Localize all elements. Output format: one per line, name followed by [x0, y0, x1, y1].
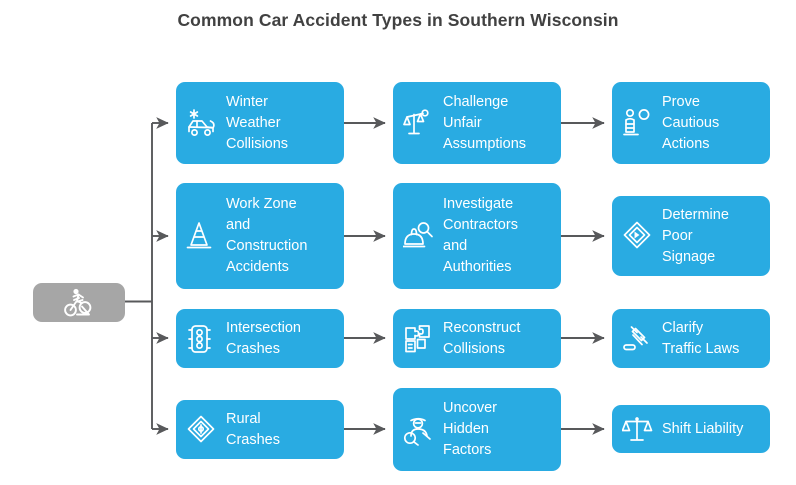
cyclist-icon — [58, 284, 100, 322]
node-label: Shift Liability — [662, 419, 760, 440]
page-title: Common Car Accident Types in Southern Wi… — [0, 10, 796, 31]
gavel-icon — [621, 322, 655, 356]
node-r1c3[interactable]: Prove Cautious Actions — [612, 82, 770, 164]
diamond-sign-icon — [621, 219, 655, 253]
traffic-light-icon — [185, 322, 219, 356]
node-r2c2[interactable]: Investigate Contractors and Authorities — [393, 183, 561, 289]
node-r4c2[interactable]: Uncover Hidden Factors — [393, 388, 561, 471]
detective-icon — [402, 413, 436, 447]
node-r2c3[interactable]: Determine Poor Signage — [612, 196, 770, 276]
node-label: Challenge Unfair Assumptions — [443, 92, 551, 155]
node-label: Determine Poor Signage — [662, 205, 760, 268]
node-r1c1[interactable]: Winter Weather Collisions — [176, 82, 344, 164]
node-r2c1[interactable]: Work Zone and Construction Accidents — [176, 183, 344, 289]
diagram-canvas: Common Car Accident Types in Southern Wi… — [0, 0, 796, 485]
node-label: Prove Cautious Actions — [662, 92, 760, 155]
balance-scales-icon — [621, 412, 655, 446]
node-label: Reconstruct Collisions — [443, 318, 551, 360]
scales-icon — [402, 106, 436, 140]
node-label: Winter Weather Collisions — [226, 92, 334, 155]
hardhat-search-icon — [402, 219, 436, 253]
traffic-cone-icon — [185, 219, 219, 253]
node-r1c2[interactable]: Challenge Unfair Assumptions — [393, 82, 561, 164]
road-sign-diamond-icon — [185, 413, 219, 447]
node-label: Investigate Contractors and Authorities — [443, 194, 551, 278]
node-r3c3[interactable]: Clarify Traffic Laws — [612, 309, 770, 368]
person-check-icon — [621, 106, 655, 140]
node-r4c3[interactable]: Shift Liability — [612, 405, 770, 453]
node-r4c1[interactable]: Rural Crashes — [176, 400, 344, 459]
node-r3c1[interactable]: Intersection Crashes — [176, 309, 344, 368]
node-label: Intersection Crashes — [226, 318, 334, 360]
node-label: Clarify Traffic Laws — [662, 318, 760, 360]
node-label: Uncover Hidden Factors — [443, 398, 551, 461]
snow-car-icon — [185, 106, 219, 140]
node-label: Rural Crashes — [226, 409, 334, 451]
node-r3c2[interactable]: Reconstruct Collisions — [393, 309, 561, 368]
puzzle-icon — [402, 322, 436, 356]
root-node[interactable] — [33, 283, 125, 322]
node-label: Work Zone and Construction Accidents — [226, 194, 334, 278]
